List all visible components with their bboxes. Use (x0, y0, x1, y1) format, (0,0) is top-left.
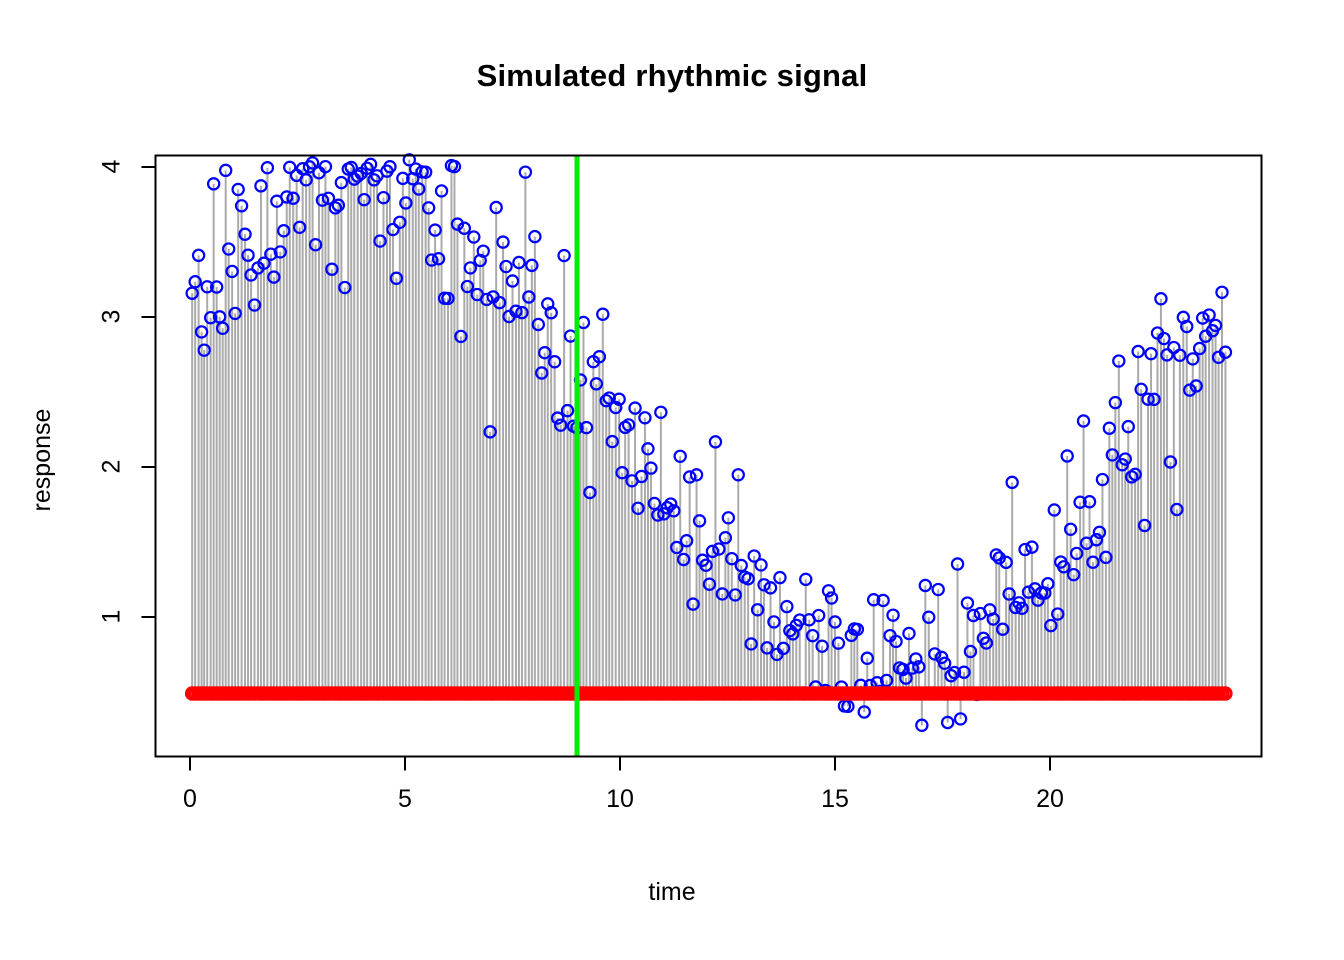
x-tick-label: 15 (805, 785, 865, 814)
y-tick-label: 1 (97, 597, 126, 637)
y-tick-label: 3 (97, 297, 126, 337)
y-tick-label: 4 (97, 147, 126, 187)
x-axis-label: time (0, 878, 1344, 907)
plot-canvas (0, 0, 1344, 960)
y-axis-label: response (28, 310, 58, 610)
x-tick-label: 20 (1020, 785, 1080, 814)
x-tick-label: 10 (590, 785, 650, 814)
y-tick-label: 2 (97, 447, 126, 487)
x-tick-label: 5 (375, 785, 435, 814)
rug-points-group (187, 688, 1231, 699)
chart-figure: Simulated rhythmic signal 05101520 1234 … (0, 0, 1344, 960)
x-tick-label: 0 (160, 785, 220, 814)
